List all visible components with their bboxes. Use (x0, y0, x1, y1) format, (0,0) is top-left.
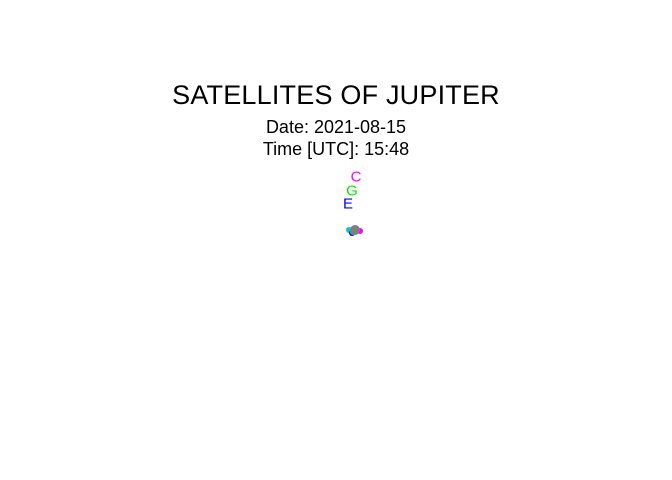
moon-label-callisto: C (351, 170, 362, 185)
planet-disk-jupiter (350, 225, 360, 235)
sky-plot-area: EGC (0, 0, 672, 480)
satellites-of-jupiter-plot: SATELLITES OF JUPITER Date: 2021-08-15 T… (0, 0, 672, 480)
moon-label-ganymede: G (346, 184, 358, 199)
